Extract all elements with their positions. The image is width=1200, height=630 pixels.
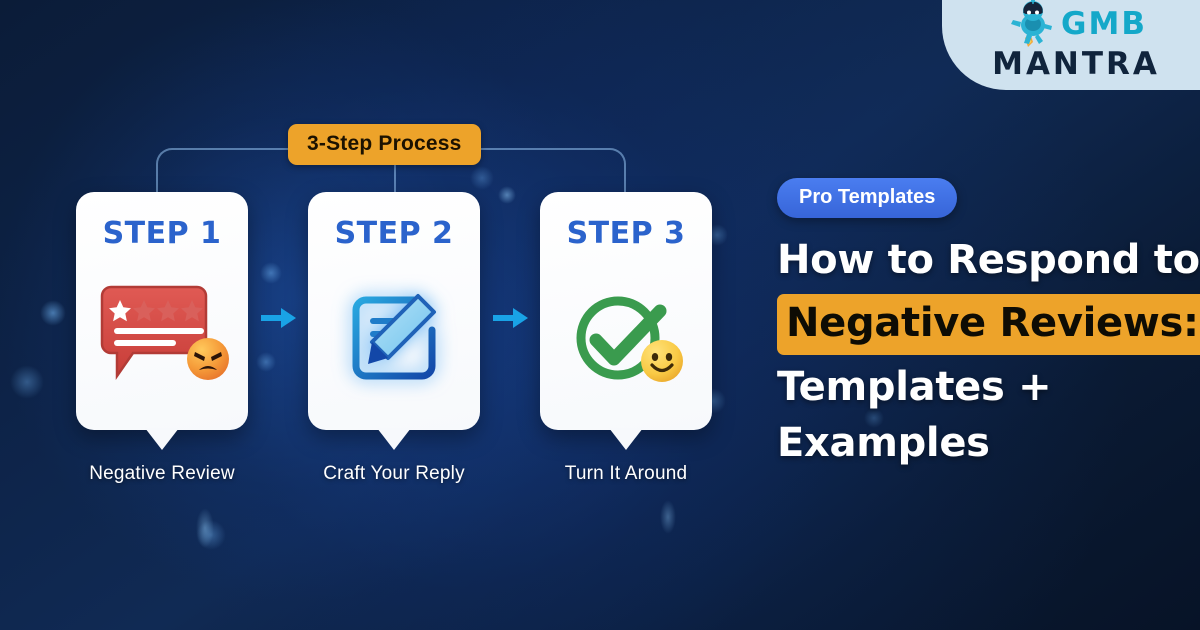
brand-logo-panel[interactable]: GMB MANTRA [942,0,1200,90]
smiling-face-emoji [640,339,684,388]
step-1-caption: Negative Review [52,463,272,485]
headline-line-3: Templates + [777,359,1189,415]
headline-line-4: Examples [777,415,1189,471]
headline-block: How to Respond to Negative Reviews: Temp… [777,232,1189,471]
logo-text-mantra: MANTRA [992,46,1160,82]
bokeh-dot [260,262,282,284]
arrow-right-icon [493,305,529,331]
robot-mascot-icon [1005,0,1057,50]
edit-document-pencil-icon [342,286,446,395]
step-card-2[interactable]: STEP 2 [308,192,480,430]
headline-highlight-line: Negative Reviews: [777,288,1189,359]
step-3-caption: Turn It Around [516,463,736,485]
three-step-process-badge: 3-Step Process [288,124,481,165]
headline-highlight-text: Negative Reviews: [777,294,1200,355]
headline-line-1: How to Respond to [777,232,1189,288]
bokeh-dot [40,300,66,326]
pro-templates-badge[interactable]: Pro Templates [777,178,957,218]
step-1-title: STEP 1 [103,216,222,251]
logo-text-gmb: GMB [1061,6,1147,42]
bokeh-dot [256,352,276,372]
bokeh-dot [498,186,516,204]
step-2-caption: Craft Your Reply [284,463,504,485]
bokeh-dot [196,520,226,550]
angry-face-emoji [186,337,230,386]
step-3-icon-wrap [540,251,712,430]
step-2-icon-wrap [308,251,480,430]
bokeh-dot [470,166,494,190]
bokeh-dot [10,365,44,399]
arrow-right-icon [261,305,297,331]
step-card-3[interactable]: STEP 3 [540,192,712,430]
step-2-title: STEP 2 [335,216,454,251]
poster-canvas: GMB MANTRA 3-Step Process STEP 1 [0,0,1200,630]
step-1-icon-wrap [76,251,248,430]
bokeh-dot [660,500,676,534]
step-3-title: STEP 3 [567,216,686,251]
bokeh-dot [196,508,214,548]
step-card-1[interactable]: STEP 1 [76,192,248,430]
